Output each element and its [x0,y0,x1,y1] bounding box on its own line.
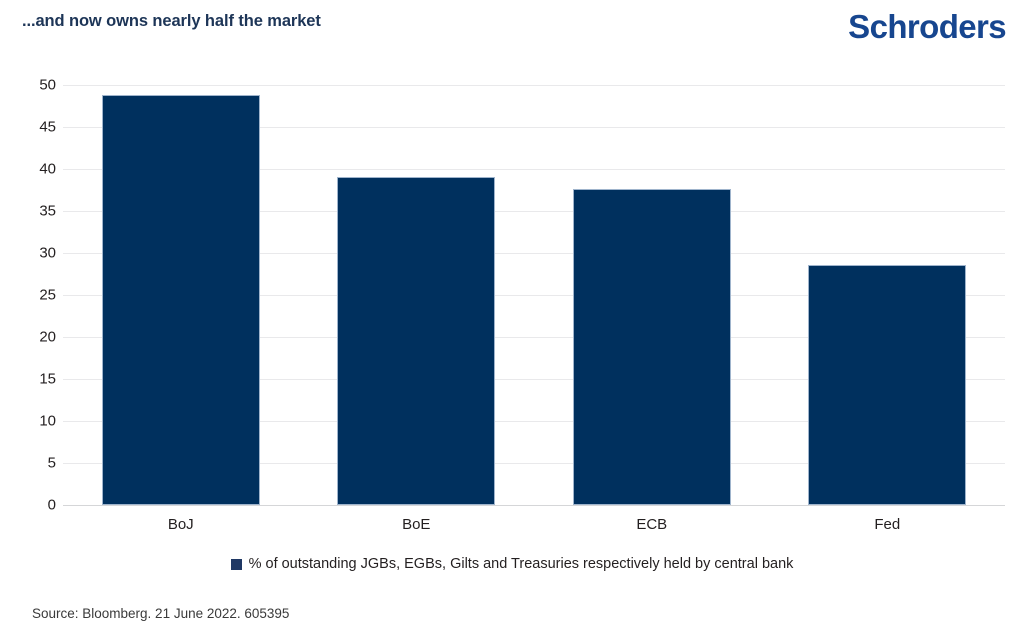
chart-header: ...and now owns nearly half the market S… [0,0,1024,62]
source-note: Source: Bloomberg. 21 June 2022. 605395 [32,606,289,621]
y-axis-tick-label: 40 [4,162,56,177]
y-axis-tick-label: 30 [4,246,56,261]
schroders-logo: Schroders [848,8,1006,46]
x-axis-category-label: ECB [534,516,770,533]
x-axis-category-label: BoE [299,516,535,533]
y-axis-tick-label: 10 [4,414,56,429]
y-axis-tick-label: 15 [4,372,56,387]
axis-baseline [63,505,1005,506]
gridline [63,85,1005,86]
chart-plot: 05101520253035404550 BoJBoEECBFed [0,62,1024,532]
bar-ecb [573,189,731,505]
legend-swatch-icon [231,559,242,570]
x-axis-category-label: Fed [770,516,1006,533]
y-axis-tick-label: 5 [4,456,56,471]
y-axis-tick-label: 20 [4,330,56,345]
bar-boj [102,95,260,505]
plot-area: BoJBoEECBFed [63,62,1005,532]
y-axis-tick-label: 45 [4,120,56,135]
y-axis: 05101520253035404550 [0,62,56,532]
x-axis-category-label: BoJ [63,516,299,533]
bar-fed [808,265,966,505]
legend-label: % of outstanding JGBs, EGBs, Gilts and T… [249,556,794,572]
chart-legend: % of outstanding JGBs, EGBs, Gilts and T… [0,556,1024,574]
y-axis-tick-label: 25 [4,288,56,303]
page-title: ...and now owns nearly half the market [22,12,321,31]
y-axis-tick-label: 50 [4,78,56,93]
y-axis-tick-label: 35 [4,204,56,219]
chart-page: ...and now owns nearly half the market S… [0,0,1024,639]
y-axis-tick-label: 0 [4,498,56,513]
bar-boe [337,177,495,505]
